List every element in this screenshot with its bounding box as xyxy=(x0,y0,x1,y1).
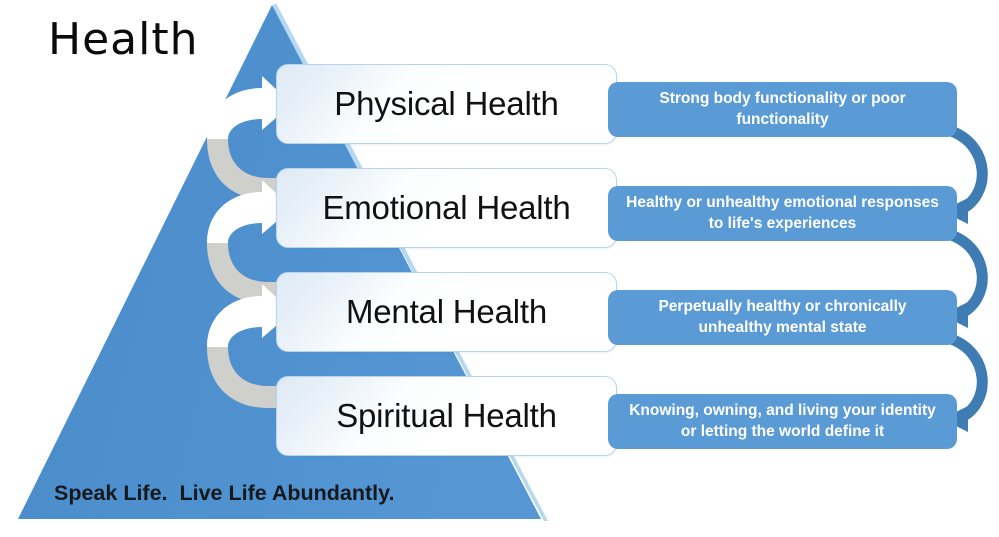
level-label: Emotional Health xyxy=(322,189,570,227)
level-label: Mental Health xyxy=(346,293,547,331)
level-box-physical[interactable]: Physical Health xyxy=(276,64,617,144)
desc-box-emotional[interactable]: Healthy or unhealthy emotional responses… xyxy=(608,186,957,241)
desc-box-mental[interactable]: Perpetually healthy or chronically unhea… xyxy=(608,290,957,345)
page-title: Health xyxy=(48,14,198,65)
desc-text: Strong body functionality or poor functi… xyxy=(622,89,943,129)
tagline: Speak Life. Live Life Abundantly. xyxy=(54,481,394,506)
level-box-spiritual[interactable]: Spiritual Health xyxy=(276,376,617,456)
desc-text: Perpetually healthy or chronically unhea… xyxy=(622,297,943,337)
level-label: Physical Health xyxy=(334,85,558,123)
level-box-mental[interactable]: Mental Health xyxy=(276,272,617,352)
desc-text: Healthy or unhealthy emotional responses… xyxy=(622,193,943,233)
level-box-emotional[interactable]: Emotional Health xyxy=(276,168,617,248)
desc-text: Knowing, owning, and living your identit… xyxy=(622,401,943,441)
level-label: Spiritual Health xyxy=(336,397,557,435)
desc-box-physical[interactable]: Strong body functionality or poor functi… xyxy=(608,82,957,137)
health-pyramid-diagram: Health Physical Health Emotional Health … xyxy=(0,0,999,537)
desc-box-spiritual[interactable]: Knowing, owning, and living your identit… xyxy=(608,394,957,449)
